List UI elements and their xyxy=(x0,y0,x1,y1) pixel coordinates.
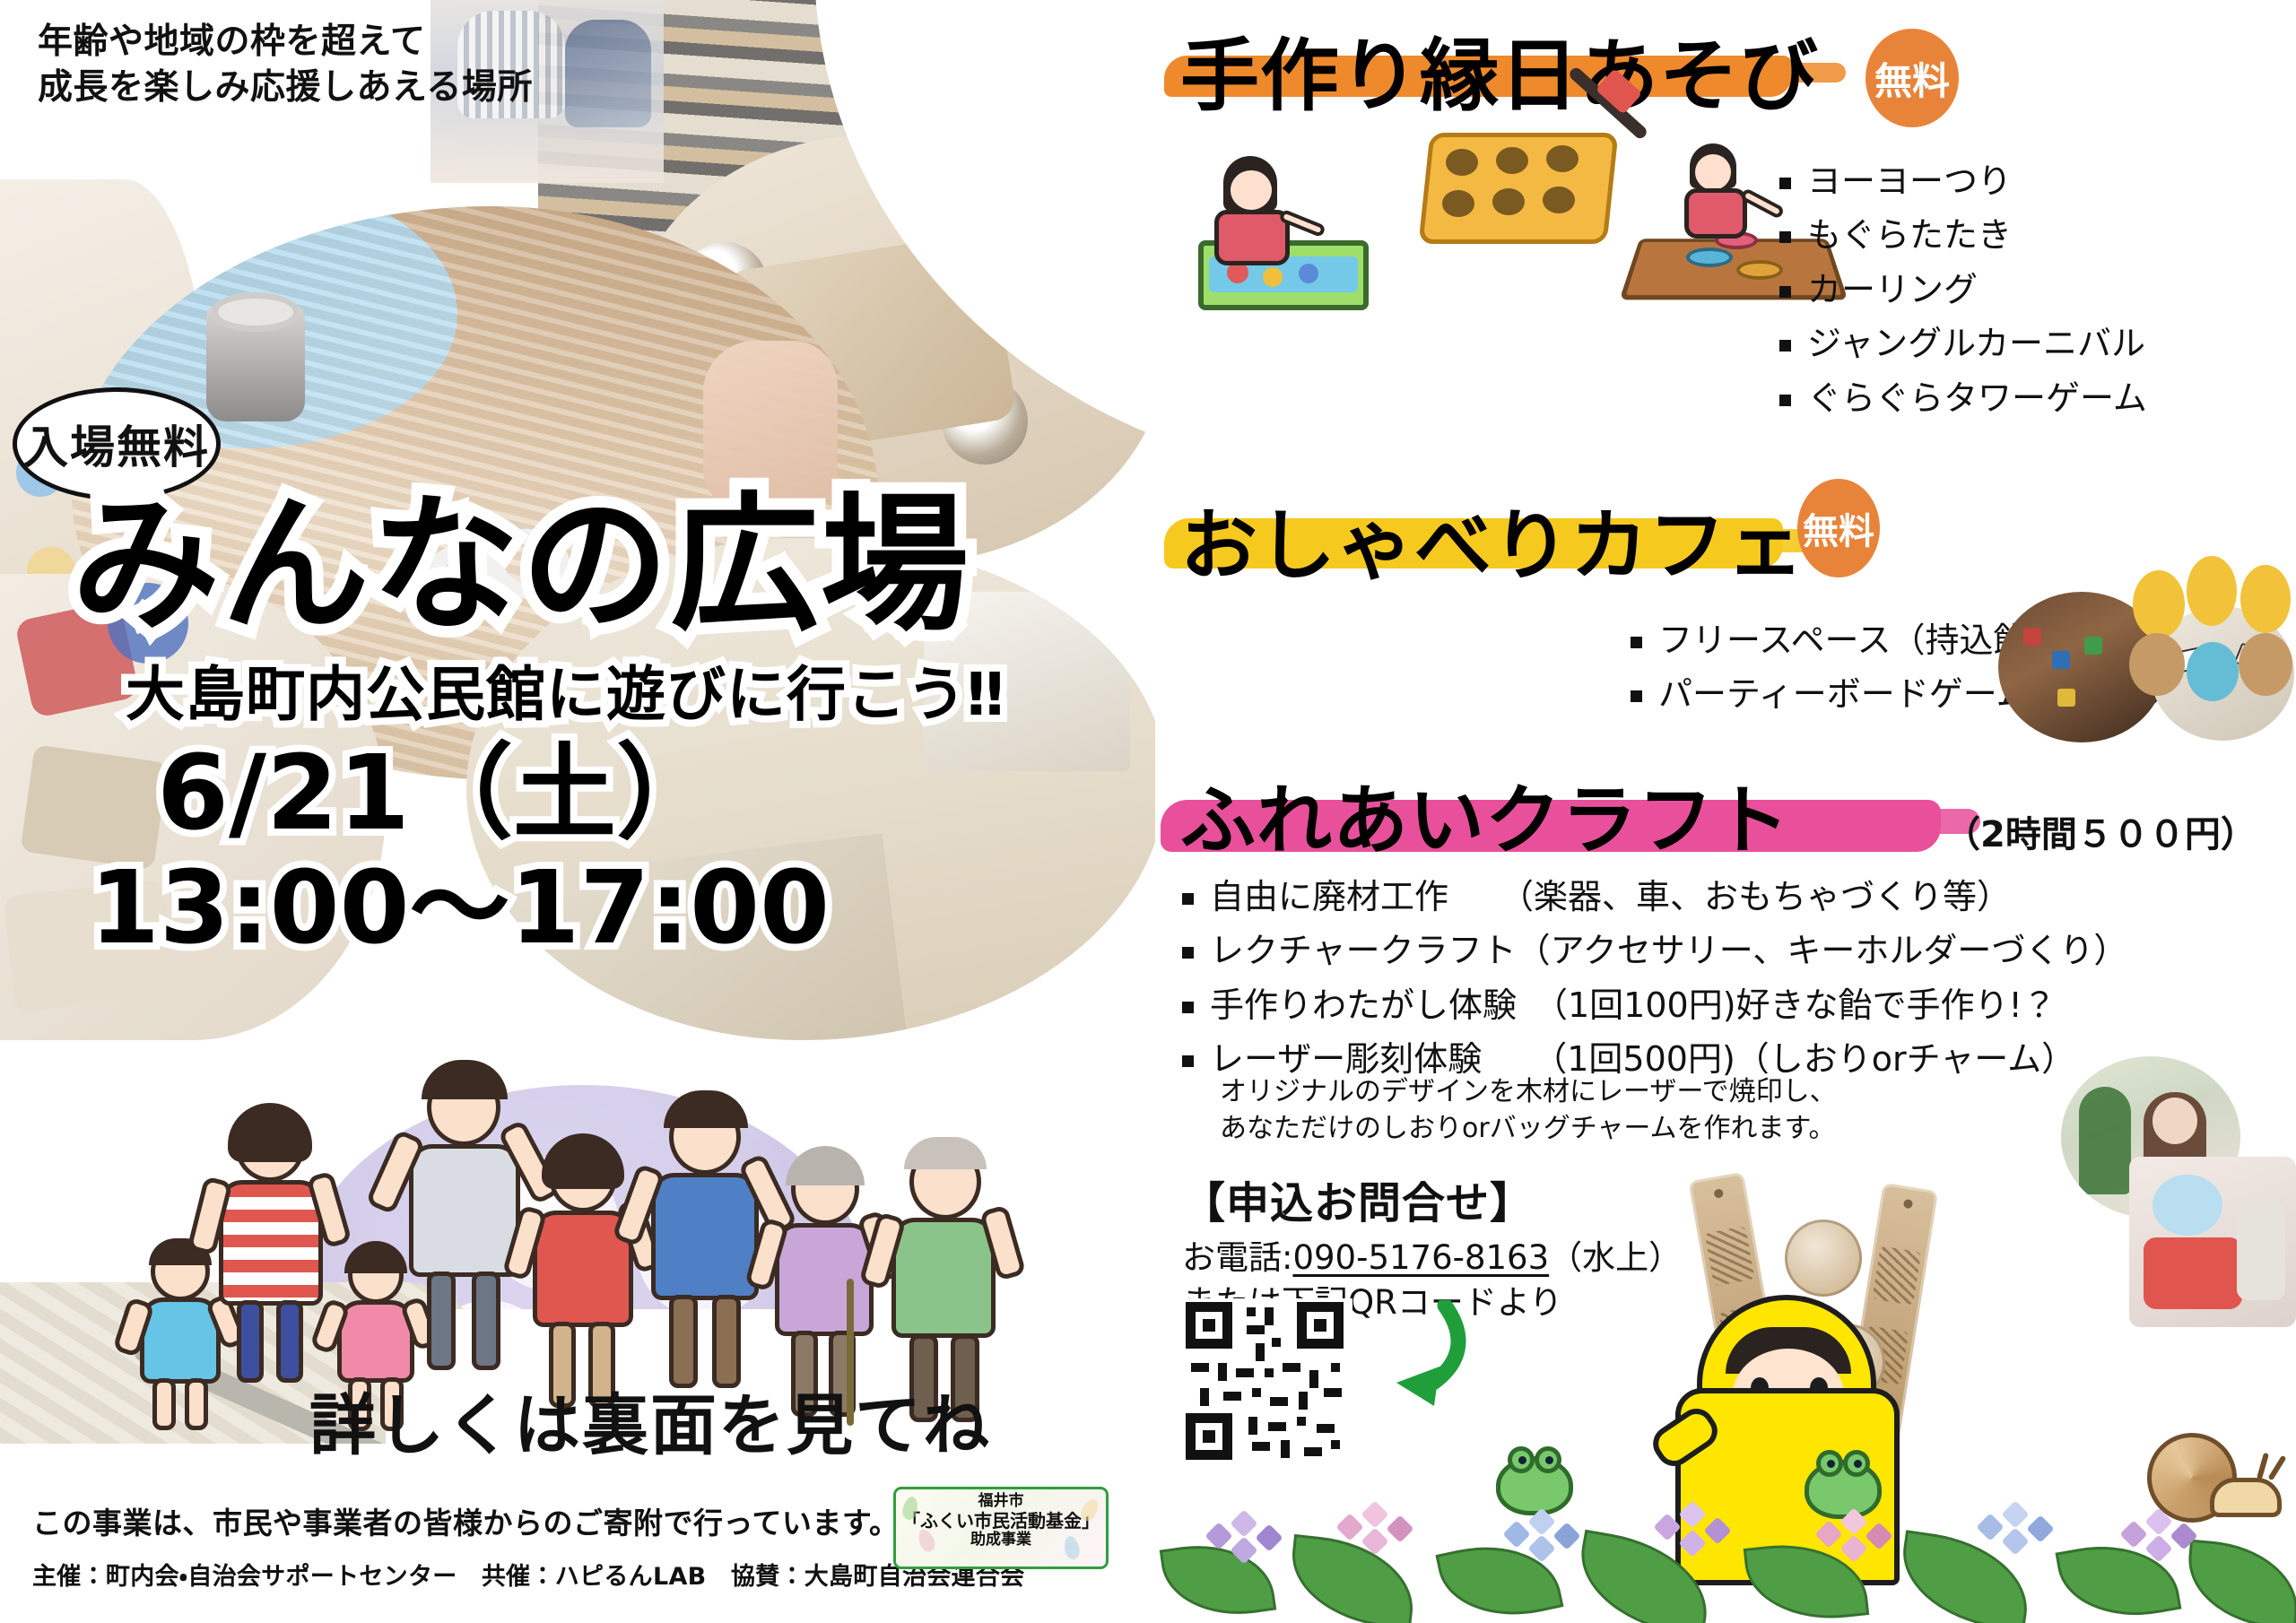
decor-blob-5 xyxy=(2187,642,2239,701)
list-item-label: ぐらぐらタワーゲーム xyxy=(1807,377,2147,421)
sub-title: 大島町内公民館に遊びに行こう‼ xyxy=(126,665,1004,725)
contact-phone-number[interactable]: 090-5176-8163 xyxy=(1292,1238,1549,1277)
decor-blob-1 xyxy=(2133,570,2185,638)
contact-phone-line: お電話:090-5176-8163（水上） xyxy=(1182,1230,1682,1279)
list-item: 手作りわたがし体験 （1回100円)好きな飴で手作り!？ xyxy=(1182,984,2127,1028)
section-title-cafe: おしゃべりカフェ xyxy=(1180,482,1805,595)
section-title-ennichi: 手作り縁日あそび xyxy=(1180,13,1819,126)
free-badge-ennichi-label: 無料 xyxy=(1874,51,1950,106)
bullet-square-icon xyxy=(1779,178,1791,189)
bullet-square-icon xyxy=(1182,1055,1194,1067)
bullet-square-icon xyxy=(1779,231,1791,243)
list-item: 自由に廃材工作 （楽器、車、おもちゃづくり等） xyxy=(1182,875,2127,919)
left-panel: 年齢や地域の枠を超えて 成長を楽しみ応援しあえる場所 入場無料 みんなの広場 大… xyxy=(0,0,1155,1623)
decor-blob-2 xyxy=(2187,556,2237,626)
craft-price-note: （2時間５００円） xyxy=(1944,805,2257,857)
flower-band xyxy=(1155,1417,2296,1623)
right-panel: 手作り縁日あそび 無料 xyxy=(1155,0,2296,1623)
list-item: ヨーヨーつり xyxy=(1779,160,2147,204)
free-badge-cafe-label: 無料 xyxy=(1803,502,1874,554)
poster-root: 年齢や地域の枠を超えて 成長を楽しみ応援しあえる場所 入場無料 みんなの広場 大… xyxy=(0,0,2296,1623)
contact-title: 【申込お問合せ】 xyxy=(1182,1167,1534,1230)
list-craft: 自由に廃材工作 （楽器、車、おもちゃづくり等） レクチャークラフト（アクセサリー… xyxy=(1182,875,2127,1092)
photo-cotton-candy xyxy=(2129,1157,2296,1327)
decor-blob-6 xyxy=(2239,633,2292,696)
grant-logo-city: 福井市 xyxy=(901,1493,1100,1510)
grant-logo-fund: 「ふくい市民活動基金」 xyxy=(901,1510,1100,1532)
page-title: みんなの広場 xyxy=(72,491,970,639)
tagline: 年齢や地域の枠を超えて 成長を楽しみ応援しあえる場所 xyxy=(38,20,533,110)
list-item-label: レクチャークラフト（アクセサリー、キーホルダーづくり） xyxy=(1210,929,2127,973)
footer-organizers: 主催：町内会・自治会サポートセンター 共催：ハピるんLAB 協賛：大島町自治会連… xyxy=(32,1557,1024,1592)
event-time: 13:00〜17:00 xyxy=(90,856,830,960)
illustration-mogura-box xyxy=(1424,117,1622,260)
list-item-label: カーリング xyxy=(1807,268,1978,312)
list-item-label: ヨーヨーつり xyxy=(1807,160,2012,204)
see-back-note: 詳しくは裏面を見てね xyxy=(309,1372,991,1468)
list-ennichi: ヨーヨーつり もぐらたたき カーリング ジャングルカーニバル ぐらぐらタワーゲー… xyxy=(1779,160,2147,430)
bullet-square-icon xyxy=(1182,893,1194,905)
list-item-label: もぐらたたき xyxy=(1807,213,2012,257)
bullet-square-icon xyxy=(1631,690,1642,702)
list-item: ぐらぐらタワーゲーム xyxy=(1779,377,2147,421)
bullet-square-icon xyxy=(1779,340,1791,352)
list-item: ジャングルカーニバル xyxy=(1779,322,2147,366)
contact-phone-person: （水上） xyxy=(1549,1238,1682,1277)
bullet-square-icon xyxy=(1182,1002,1194,1013)
list-item-label: 手作りわたがし体験 （1回100円)好きな飴で手作り!？ xyxy=(1210,984,2057,1028)
bullet-square-icon xyxy=(1779,395,1791,406)
bullet-square-icon xyxy=(1182,947,1194,959)
bullet-square-icon xyxy=(1779,286,1791,298)
bullet-square-icon xyxy=(1631,637,1642,648)
list-item: もぐらたたき xyxy=(1779,213,2147,257)
grant-logo: 福井市 「ふくい市民活動基金」 助成事業 xyxy=(893,1487,1109,1569)
free-badge-ennichi: 無料 xyxy=(1865,29,1959,127)
contact-phone-label: お電話: xyxy=(1182,1238,1292,1277)
decor-blob-3 xyxy=(2240,565,2291,633)
list-item-label: ジャングルカーニバル xyxy=(1807,322,2145,366)
craft-sub-note: オリジナルのデザインを木材にレーザーで焼印し、 あなただけのしおりorバッグチャ… xyxy=(1220,1074,1837,1147)
list-item-label: 自由に廃材工作 （楽器、車、おもちゃづくり等） xyxy=(1210,875,2011,919)
illustration-yoyo-girl xyxy=(1191,135,1388,305)
decor-blob-4 xyxy=(2129,633,2185,696)
list-item: カーリング xyxy=(1779,268,2147,312)
green-arrow-icon xyxy=(1375,1300,1474,1417)
list-item: レクチャークラフト（アクセサリー、キーホルダーづくり） xyxy=(1182,929,2127,973)
free-badge-cafe: 無料 xyxy=(1797,479,1880,577)
free-entry-label: 入場無料 xyxy=(23,412,210,476)
section-title-craft: ふれあいクラフト xyxy=(1180,760,1790,869)
event-date: 6/21（土） xyxy=(157,741,719,848)
footer-donation-note: この事業は、市民や事業者の皆様からのご寄附で行っています。 xyxy=(32,1499,900,1542)
